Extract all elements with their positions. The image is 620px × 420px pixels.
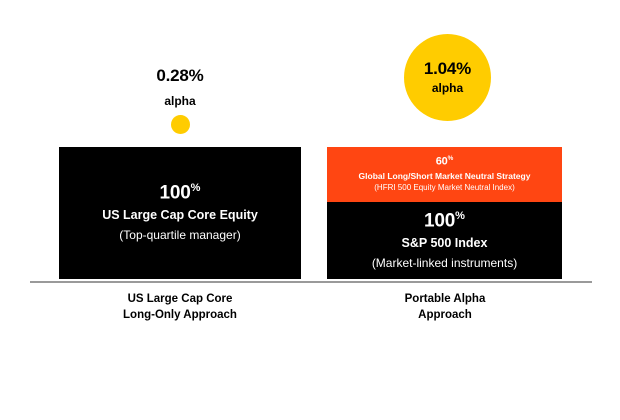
right-orange-percent: 60% [436,156,454,168]
bar-portable-alpha: 60% Global Long/Short Market Neutral Str… [327,147,562,279]
left-alpha-label: alpha [120,94,240,108]
bar-segment-us-large-cap-core-equity: 100% US Large Cap Core Equity (Top-quart… [59,147,301,279]
chart-canvas: 0.28% alpha 1.04% alpha 100% US Large Ca… [0,0,620,420]
right-black-subtitle: (Market-linked instruments) [372,256,517,270]
category-label-portable-alpha: Portable Alpha Approach [325,292,565,323]
right-alpha-label: alpha [432,82,463,96]
right-orange-percent-number: 60 [436,156,448,168]
left-bar-percent-unit: % [191,182,201,194]
left-bar-percent-number: 100 [160,182,191,203]
axis-baseline [30,281,592,283]
right-alpha-value: 1.04% [424,59,471,79]
left-bar-title: US Large Cap Core Equity [102,208,258,223]
bar-segment-global-long-short-market-neutral: 60% Global Long/Short Market Neutral Str… [327,147,562,202]
right-black-title: S&P 500 Index [402,236,488,251]
category-label-us-large-cap-core: US Large Cap Core Long-Only Approach [60,292,300,323]
right-orange-subtitle: (HFRI 500 Equity Market Neutral Index) [374,183,515,193]
right-black-percent: 100% [424,211,465,230]
right-orange-percent-unit: % [448,155,454,162]
category-label-left-line2: Long-Only Approach [60,308,300,324]
category-label-right-line1: Portable Alpha [325,292,565,308]
right-black-percent-number: 100 [424,210,455,231]
right-alpha-bubble: 1.04% alpha [404,34,491,121]
category-label-left-line1: US Large Cap Core [60,292,300,308]
left-bar-percent: 100% [160,183,201,202]
bar-segment-sp-500-index: 100% S&P 500 Index (Market-linked instru… [327,202,562,279]
right-black-percent-unit: % [455,210,465,222]
right-orange-title: Global Long/Short Market Neutral Strateg… [359,171,531,181]
category-label-right-line2: Approach [325,308,565,324]
left-alpha-callout: 0.28% alpha [120,66,240,109]
left-bar-subtitle: (Top-quartile manager) [119,228,240,242]
left-alpha-value: 0.28% [120,66,240,86]
left-alpha-bubble [171,115,190,134]
bar-us-large-cap-core: 100% US Large Cap Core Equity (Top-quart… [59,147,301,279]
